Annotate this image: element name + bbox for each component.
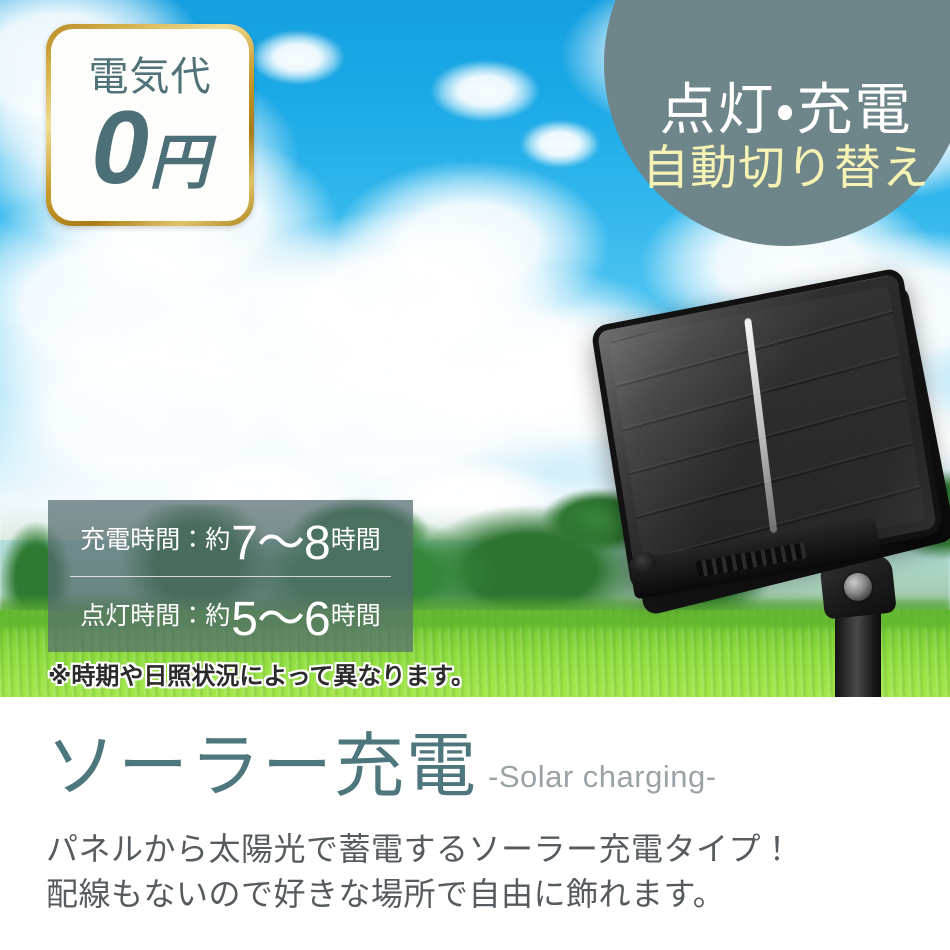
electricity-cost-number: 0	[91, 99, 147, 198]
spec-label-lighting-time: 点灯時間：約	[80, 596, 230, 632]
spec-footnote: ※時期や日照状況によって異なります。	[48, 656, 475, 691]
adjustment-knob-icon	[844, 573, 872, 601]
spec-row-charging-time: 充電時間：約 7〜8 時間	[48, 500, 413, 576]
section-description-line1: パネルから太陽光で蓄電するソーラー充電タイプ！	[46, 827, 794, 872]
bottom-section: ソーラー充電 -Solar charging- パネルから太陽光で蓄電するソーラ…	[0, 697, 950, 950]
banner-root: 電気代 0 円 点灯・充電 自動切り替え 充電時間：約 7〜8 時間 点灯時間：…	[0, 0, 950, 950]
electricity-cost-badge: 電気代 0 円	[46, 24, 254, 226]
spec-label-charging-time: 充電時間：約	[80, 520, 230, 556]
electricity-cost-unit: 円	[149, 134, 209, 191]
spec-unit-lighting-time: 時間	[331, 596, 381, 632]
spec-value-charging-time: 7〜8	[230, 503, 330, 573]
section-headline-jp: ソーラー充電	[46, 731, 478, 801]
spec-value-lighting-time: 5〜6	[230, 579, 330, 649]
section-headline-en: -Solar charging-	[488, 759, 717, 795]
electricity-cost-badge-inner: 電気代 0 円	[51, 29, 249, 221]
section-headline: ソーラー充電 -Solar charging-	[46, 731, 717, 801]
spec-panel: 充電時間：約 7〜8 時間 点灯時間：約 5〜6 時間	[48, 500, 413, 652]
section-description-line2: 配線もないので好きな場所で自由に飾れます。	[46, 872, 794, 917]
electricity-cost-amount: 0 円	[91, 99, 209, 198]
spec-row-lighting-time: 点灯時間：約 5〜6 時間	[48, 577, 413, 653]
spec-unit-charging-time: 時間	[331, 520, 381, 556]
auto-switch-badge-line1: 点灯・充電	[659, 80, 912, 139]
auto-switch-badge-line2: 自動切り替え	[642, 142, 930, 194]
section-description: パネルから太陽光で蓄電するソーラー充電タイプ！ 配線もないので好きな場所で自由に…	[46, 827, 794, 918]
